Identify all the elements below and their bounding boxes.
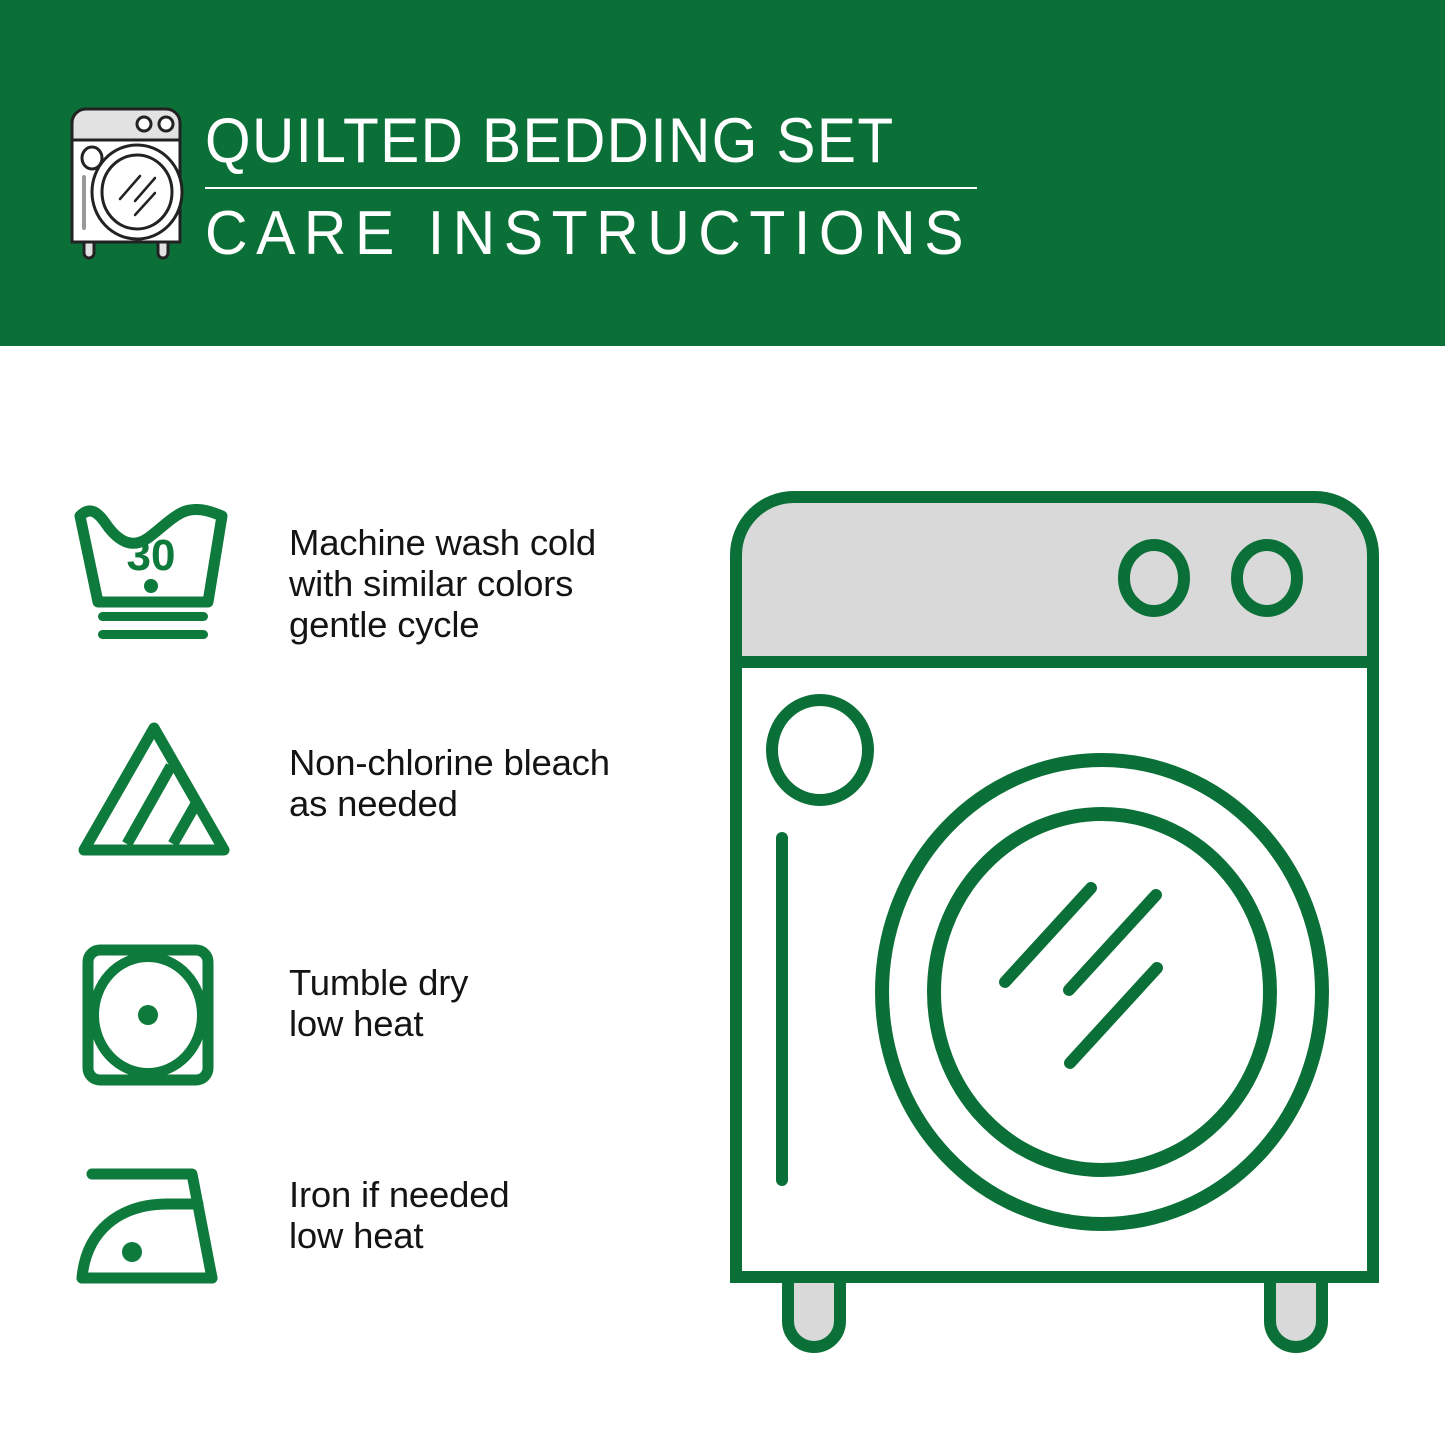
care-label-line: Non-chlorine bleach bbox=[289, 742, 689, 783]
care-label-line: with similar colors bbox=[289, 563, 689, 604]
care-label-tumble-dry: Tumble dry low heat bbox=[289, 962, 689, 1044]
wash-tub-30-gentle-icon: 30 bbox=[72, 504, 240, 652]
care-row-machine-wash: 30 Machine wash cold with similar colors… bbox=[0, 500, 700, 680]
washing-machine-illustration bbox=[722, 470, 1387, 1355]
care-label-line: Machine wash cold bbox=[289, 522, 689, 563]
care-row-bleach: Non-chlorine bleach as needed bbox=[0, 718, 700, 888]
triangle-non-chlorine-bleach-icon bbox=[72, 718, 236, 860]
care-instructions-infographic: QUILTED BEDDING SET CARE INSTRUCTIONS 30 bbox=[0, 0, 1445, 1445]
care-row-tumble-dry: Tumble dry low heat bbox=[0, 942, 700, 1102]
care-label-line: low heat bbox=[289, 1003, 689, 1044]
care-label-line: low heat bbox=[289, 1215, 689, 1256]
care-row-iron: Iron if needed low heat bbox=[0, 1152, 700, 1312]
machine-foot-left bbox=[788, 1277, 840, 1347]
header-text-block: QUILTED BEDDING SET CARE INSTRUCTIONS bbox=[205, 104, 995, 270]
tumble-dry-low-heat-icon bbox=[80, 942, 216, 1088]
care-label-bleach: Non-chlorine bleach as needed bbox=[289, 742, 689, 824]
page-subtitle: CARE INSTRUCTIONS bbox=[205, 198, 956, 270]
iron-low-heat-icon bbox=[72, 1160, 237, 1290]
header-washing-machine-icon bbox=[62, 103, 190, 261]
care-label-line: gentle cycle bbox=[289, 604, 689, 645]
control-panel bbox=[736, 497, 1373, 662]
care-label-iron: Iron if needed low heat bbox=[289, 1174, 689, 1256]
care-label-line: as needed bbox=[289, 783, 689, 824]
care-label-line: Tumble dry bbox=[289, 962, 689, 1003]
care-instruction-list: 30 Machine wash cold with similar colors… bbox=[0, 346, 700, 1445]
svg-text:30: 30 bbox=[127, 531, 176, 580]
machine-body bbox=[736, 662, 1373, 1277]
page-title: QUILTED BEDDING SET bbox=[205, 104, 940, 178]
care-label-line: Iron if needed bbox=[289, 1174, 689, 1215]
machine-foot-right bbox=[1270, 1277, 1322, 1347]
title-divider bbox=[205, 187, 977, 189]
care-label-machine-wash: Machine wash cold with similar colors ge… bbox=[289, 522, 689, 645]
header-band: QUILTED BEDDING SET CARE INSTRUCTIONS bbox=[0, 0, 1445, 346]
